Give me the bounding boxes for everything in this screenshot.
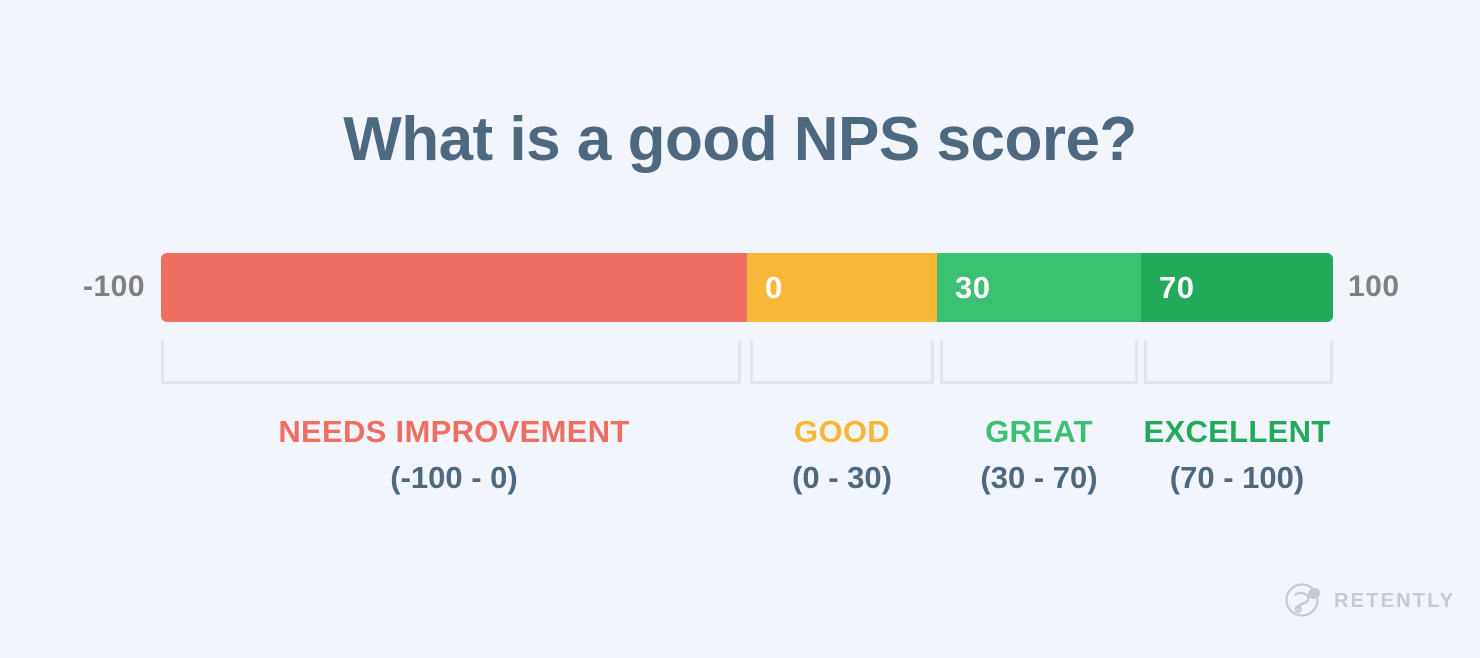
retently-mark-icon: [1283, 578, 1325, 625]
caption-name-great: GREAT: [937, 410, 1141, 454]
bracket-great: [940, 340, 1138, 384]
caption-needs-improvement: NEEDS IMPROVEMENT (-100 - 0): [161, 410, 747, 502]
scale-min-label: -100: [0, 270, 145, 304]
caption-range-needs-improvement: (-100 - 0): [161, 454, 747, 502]
scale-segment-excellent: 70: [1141, 253, 1333, 322]
caption-range-excellent: (70 - 100): [1141, 454, 1333, 502]
bracket-excellent: [1144, 340, 1333, 384]
retently-logo: RETENTLY: [1283, 578, 1455, 625]
scale-segment-great: 30: [937, 253, 1141, 322]
caption-good: GOOD (0 - 30): [747, 410, 937, 502]
scale-segment-needs-improvement: [161, 253, 747, 322]
scale-captions: NEEDS IMPROVEMENT (-100 - 0) GOOD (0 - 3…: [161, 410, 1333, 520]
bracket-needs-improvement: [161, 340, 741, 384]
page-title: What is a good NPS score?: [0, 104, 1480, 175]
caption-name-excellent: EXCELLENT: [1141, 410, 1333, 454]
bracket-good: [750, 340, 934, 384]
caption-name-needs-improvement: NEEDS IMPROVEMENT: [161, 410, 747, 454]
scale-brackets: [161, 340, 1333, 384]
scale-segment-value-excellent: 70: [1141, 270, 1194, 306]
caption-excellent: EXCELLENT (70 - 100): [1141, 410, 1333, 502]
scale-segment-value-great: 30: [937, 270, 990, 306]
scale-max-label: 100: [1348, 270, 1400, 304]
caption-range-great: (30 - 70): [937, 454, 1141, 502]
retently-wordmark: RETENTLY: [1334, 590, 1455, 613]
caption-range-good: (0 - 30): [747, 454, 937, 502]
scale-segment-good: 0: [747, 253, 937, 322]
nps-scale-bar: 0 30 70: [161, 253, 1333, 322]
caption-name-good: GOOD: [747, 410, 937, 454]
scale-segment-value-good: 0: [747, 270, 783, 306]
caption-great: GREAT (30 - 70): [937, 410, 1141, 502]
